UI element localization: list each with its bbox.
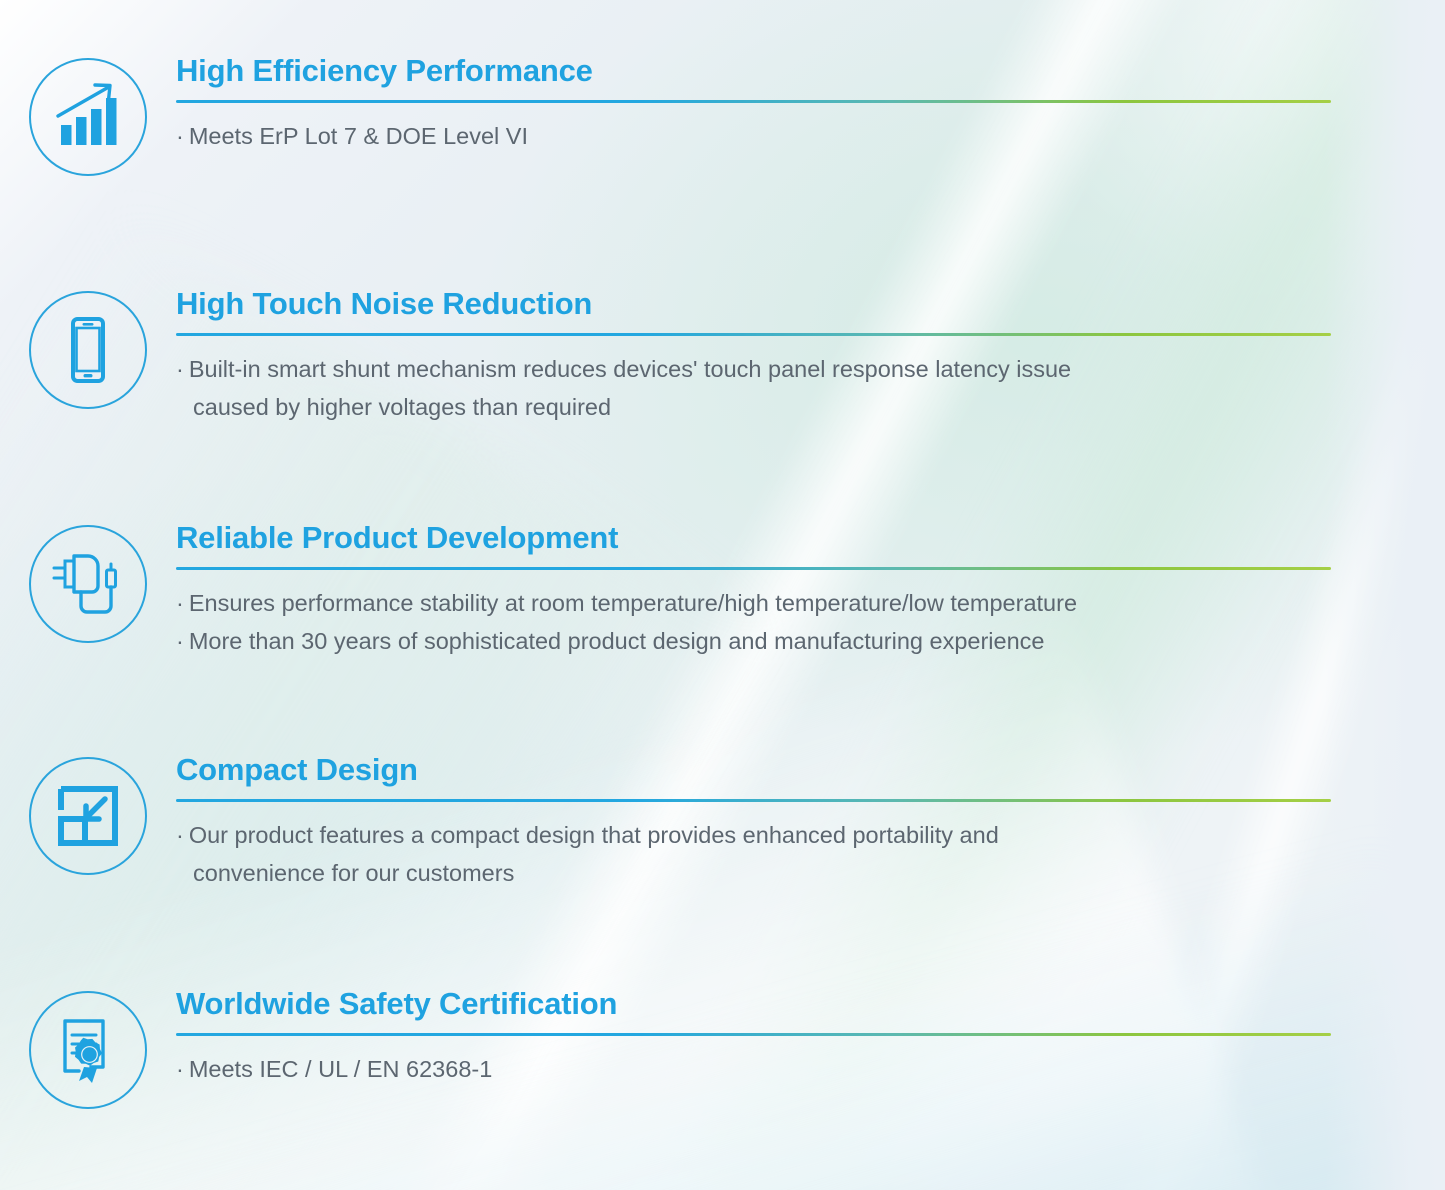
bullet-marker: · bbox=[176, 1056, 184, 1082]
feature-bullet: ·Meets ErP Lot 7 & DOE Level VI bbox=[176, 117, 1365, 155]
bullet-text: convenience for our customers bbox=[193, 860, 514, 886]
feature-divider bbox=[176, 100, 1331, 103]
feature-item-worldwide-safety-certification: Worldwide Safety Certification ·Meets IE… bbox=[0, 987, 1445, 1109]
feature-title: Worldwide Safety Certification bbox=[176, 987, 1365, 1022]
feature-bullet-continuation: caused by higher voltages than required bbox=[176, 388, 1365, 426]
bullet-text: caused by higher voltages than required bbox=[193, 394, 611, 420]
power-adapter-icon bbox=[48, 544, 128, 624]
bullet-text: Built-in smart shunt mechanism reduces d… bbox=[189, 356, 1071, 382]
feature-bullet-list: ·Ensures performance stability at room t… bbox=[176, 584, 1365, 660]
smartphone-icon bbox=[50, 312, 126, 388]
icon-circle-frame bbox=[29, 58, 147, 176]
icon-circle-frame bbox=[29, 757, 147, 875]
bar-chart-growth-icon bbox=[50, 79, 126, 155]
feature-title: Reliable Product Development bbox=[176, 521, 1365, 556]
icon-circle-frame bbox=[29, 525, 147, 643]
feature-icon-container bbox=[0, 287, 176, 409]
feature-divider bbox=[176, 333, 1331, 336]
bullet-text: Ensures performance stability at room te… bbox=[189, 590, 1077, 616]
feature-item-reliable-product-development: Reliable Product Development ·Ensures pe… bbox=[0, 521, 1445, 660]
feature-item-high-efficiency-performance: High Efficiency Performance ·Meets ErP L… bbox=[0, 54, 1445, 176]
feature-bullet: ·Our product features a compact design t… bbox=[176, 816, 1365, 854]
feature-text-column: High Efficiency Performance ·Meets ErP L… bbox=[176, 54, 1445, 155]
bullet-marker: · bbox=[176, 123, 184, 149]
bullet-marker: · bbox=[176, 590, 184, 616]
bullet-marker: · bbox=[176, 822, 184, 848]
feature-bullet-list: ·Meets IEC / UL / EN 62368-1 bbox=[176, 1050, 1365, 1088]
certificate-award-icon bbox=[51, 1013, 125, 1087]
feature-bullet-list: ·Our product features a compact design t… bbox=[176, 816, 1365, 892]
feature-item-high-touch-noise-reduction: High Touch Noise Reduction ·Built-in sma… bbox=[0, 287, 1445, 426]
feature-bullet: ·Built-in smart shunt mechanism reduces … bbox=[176, 350, 1365, 388]
compact-resize-icon bbox=[52, 780, 124, 852]
feature-divider bbox=[176, 567, 1331, 570]
feature-icon-container bbox=[0, 54, 176, 176]
bullet-text: Our product features a compact design th… bbox=[189, 822, 999, 848]
feature-text-column: Worldwide Safety Certification ·Meets IE… bbox=[176, 987, 1445, 1088]
feature-bullet-continuation: convenience for our customers bbox=[176, 854, 1365, 892]
feature-bullet-list: ·Built-in smart shunt mechanism reduces … bbox=[176, 350, 1365, 426]
feature-title: Compact Design bbox=[176, 753, 1365, 788]
bullet-text: Meets ErP Lot 7 & DOE Level VI bbox=[189, 123, 528, 149]
feature-icon-container bbox=[0, 753, 176, 875]
feature-list-page: High Efficiency Performance ·Meets ErP L… bbox=[0, 0, 1445, 1190]
bullet-text: More than 30 years of sophisticated prod… bbox=[189, 628, 1045, 654]
feature-text-column: High Touch Noise Reduction ·Built-in sma… bbox=[176, 287, 1445, 426]
bullet-marker: · bbox=[176, 628, 184, 654]
feature-icon-container bbox=[0, 521, 176, 643]
feature-item-compact-design: Compact Design ·Our product features a c… bbox=[0, 753, 1445, 892]
feature-text-column: Reliable Product Development ·Ensures pe… bbox=[176, 521, 1445, 660]
icon-circle-frame bbox=[29, 991, 147, 1109]
feature-icon-container bbox=[0, 987, 176, 1109]
feature-divider bbox=[176, 799, 1331, 802]
bullet-text: Meets IEC / UL / EN 62368-1 bbox=[189, 1056, 492, 1082]
feature-bullet: ·Meets IEC / UL / EN 62368-1 bbox=[176, 1050, 1365, 1088]
feature-bullet: ·More than 30 years of sophisticated pro… bbox=[176, 622, 1365, 660]
feature-text-column: Compact Design ·Our product features a c… bbox=[176, 753, 1445, 892]
feature-bullet: ·Ensures performance stability at room t… bbox=[176, 584, 1365, 622]
feature-divider bbox=[176, 1033, 1331, 1036]
icon-circle-frame bbox=[29, 291, 147, 409]
feature-title: High Touch Noise Reduction bbox=[176, 287, 1365, 322]
bullet-marker: · bbox=[176, 356, 184, 382]
feature-bullet-list: ·Meets ErP Lot 7 & DOE Level VI bbox=[176, 117, 1365, 155]
feature-title: High Efficiency Performance bbox=[176, 54, 1365, 89]
